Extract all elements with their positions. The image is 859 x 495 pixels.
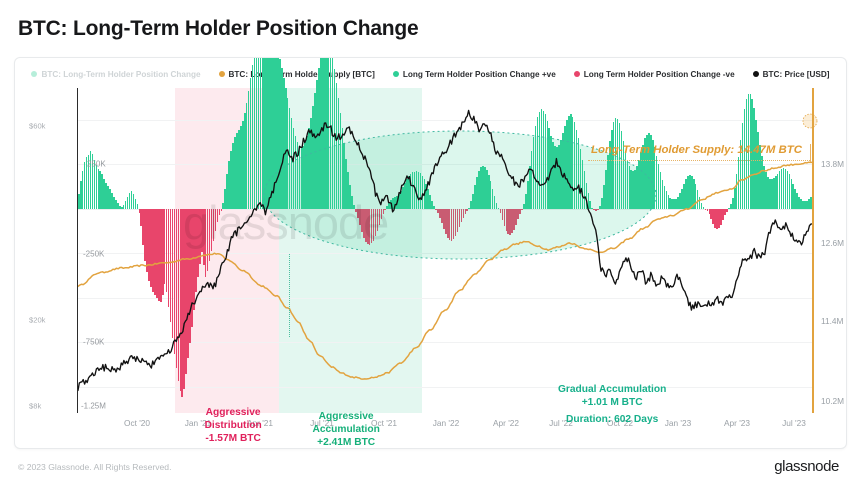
legend-item-holder-supply[interactable]: BTC: Long-Term Holder Supply [BTC] bbox=[219, 70, 375, 79]
supply-callout-tick bbox=[810, 144, 811, 162]
position-axis-tick-neg125m: -1.25M bbox=[81, 402, 106, 411]
x-axis-tick-apr23: Apr '23 bbox=[724, 418, 750, 428]
x-axis-tick-jul23: Jul '23 bbox=[782, 418, 806, 428]
legend-label-position-change: BTC: Long-Term Holder Position Change bbox=[41, 70, 200, 79]
chart-legend: BTC: Long-Term Holder Position Change BT… bbox=[15, 66, 846, 82]
right-axis-tick-126m: 12.6M bbox=[821, 238, 844, 248]
chart-overlays bbox=[78, 88, 812, 413]
left-axis-tick-8k: $8k bbox=[29, 402, 846, 411]
annotation-aggressive-accumulation: Aggressive Accumulation +2.41M BTC Durat… bbox=[300, 410, 392, 449]
x-axis-tick-jan22: Jan '22 bbox=[433, 418, 460, 428]
watermark: glassnode bbox=[183, 195, 388, 250]
right-axis bbox=[812, 88, 814, 413]
legend-label-positive: Long Term Holder Position Change +ve bbox=[403, 70, 556, 79]
left-axis bbox=[77, 88, 78, 413]
annotation-gradual-line1: Gradual Accumulation bbox=[558, 383, 666, 396]
brand-logo: glassnode bbox=[774, 458, 839, 475]
annotation-distribution-line2: Distribution bbox=[187, 419, 279, 432]
chart-page: BTC: Long-Term Holder Position Change BT… bbox=[0, 0, 859, 495]
chart-card: BTC: Long-Term Holder Position Change BT… bbox=[14, 57, 847, 449]
left-axis-tick-60k: $60k bbox=[29, 122, 846, 131]
annotation-aggressive-distribution: Aggressive Distribution -1.57M BTC Durat… bbox=[187, 406, 279, 449]
legend-item-price[interactable]: BTC: Price [USD] bbox=[753, 70, 830, 79]
legend-label-price: BTC: Price [USD] bbox=[763, 70, 830, 79]
position-axis-tick-neg750k: -750K bbox=[83, 338, 104, 347]
plot-area: glassnode bbox=[78, 88, 812, 413]
copyright-text: © 2023 Glassnode. All Rights Reserved. bbox=[18, 462, 171, 472]
right-axis-tick-114m: 11.4M bbox=[821, 316, 843, 326]
legend-dot-negative bbox=[574, 71, 580, 77]
legend-dot-positive bbox=[393, 71, 399, 77]
right-axis-tick-102m: 10.2M bbox=[821, 396, 844, 406]
legend-item-positive[interactable]: Long Term Holder Position Change +ve bbox=[393, 70, 556, 79]
x-axis-tick-oct20: Oct '20 bbox=[124, 418, 150, 428]
legend-label-negative: Long Term Holder Position Change -ve bbox=[584, 70, 735, 79]
page-title: BTC: Long-Term Holder Position Change bbox=[18, 17, 419, 41]
gradual-accumulation-leader bbox=[289, 254, 290, 337]
annotation-gradual-line3: Duration: 602 Days bbox=[558, 413, 666, 426]
legend-item-negative[interactable]: Long Term Holder Position Change -ve bbox=[574, 70, 735, 79]
annotation-gradual-accumulation: Gradual Accumulation +1.01 M BTC Duratio… bbox=[558, 383, 666, 426]
annotation-distribution-line3: -1.57M BTC bbox=[187, 432, 279, 445]
x-axis-tick-jan23: Jan '23 bbox=[665, 418, 692, 428]
legend-dot-position-change bbox=[31, 71, 37, 77]
right-axis-tick-138m: 13.8M bbox=[821, 159, 844, 169]
legend-dot-holder-supply bbox=[219, 71, 225, 77]
position-axis-tick-neg250k: -250K bbox=[83, 250, 104, 259]
annotation-distribution-line1: Aggressive bbox=[187, 406, 279, 419]
annotation-accumulation-line2: Accumulation bbox=[300, 423, 392, 436]
position-axis-tick-250k: 250K bbox=[87, 160, 106, 169]
annotation-accumulation-line1: Aggressive bbox=[300, 410, 392, 423]
supply-callout-underline bbox=[588, 159, 810, 161]
supply-callout: Long-Term Holder Supply: 14.47M BTC bbox=[591, 144, 802, 156]
left-axis-tick-20k: $20k bbox=[29, 316, 846, 325]
legend-item-position-change[interactable]: BTC: Long-Term Holder Position Change bbox=[31, 70, 200, 79]
legend-dot-price bbox=[753, 71, 759, 77]
annotation-gradual-line2: +1.01 M BTC bbox=[558, 396, 666, 409]
annotation-accumulation-line3: +2.41M BTC bbox=[300, 436, 392, 449]
x-axis-tick-apr22: Apr '22 bbox=[493, 418, 519, 428]
